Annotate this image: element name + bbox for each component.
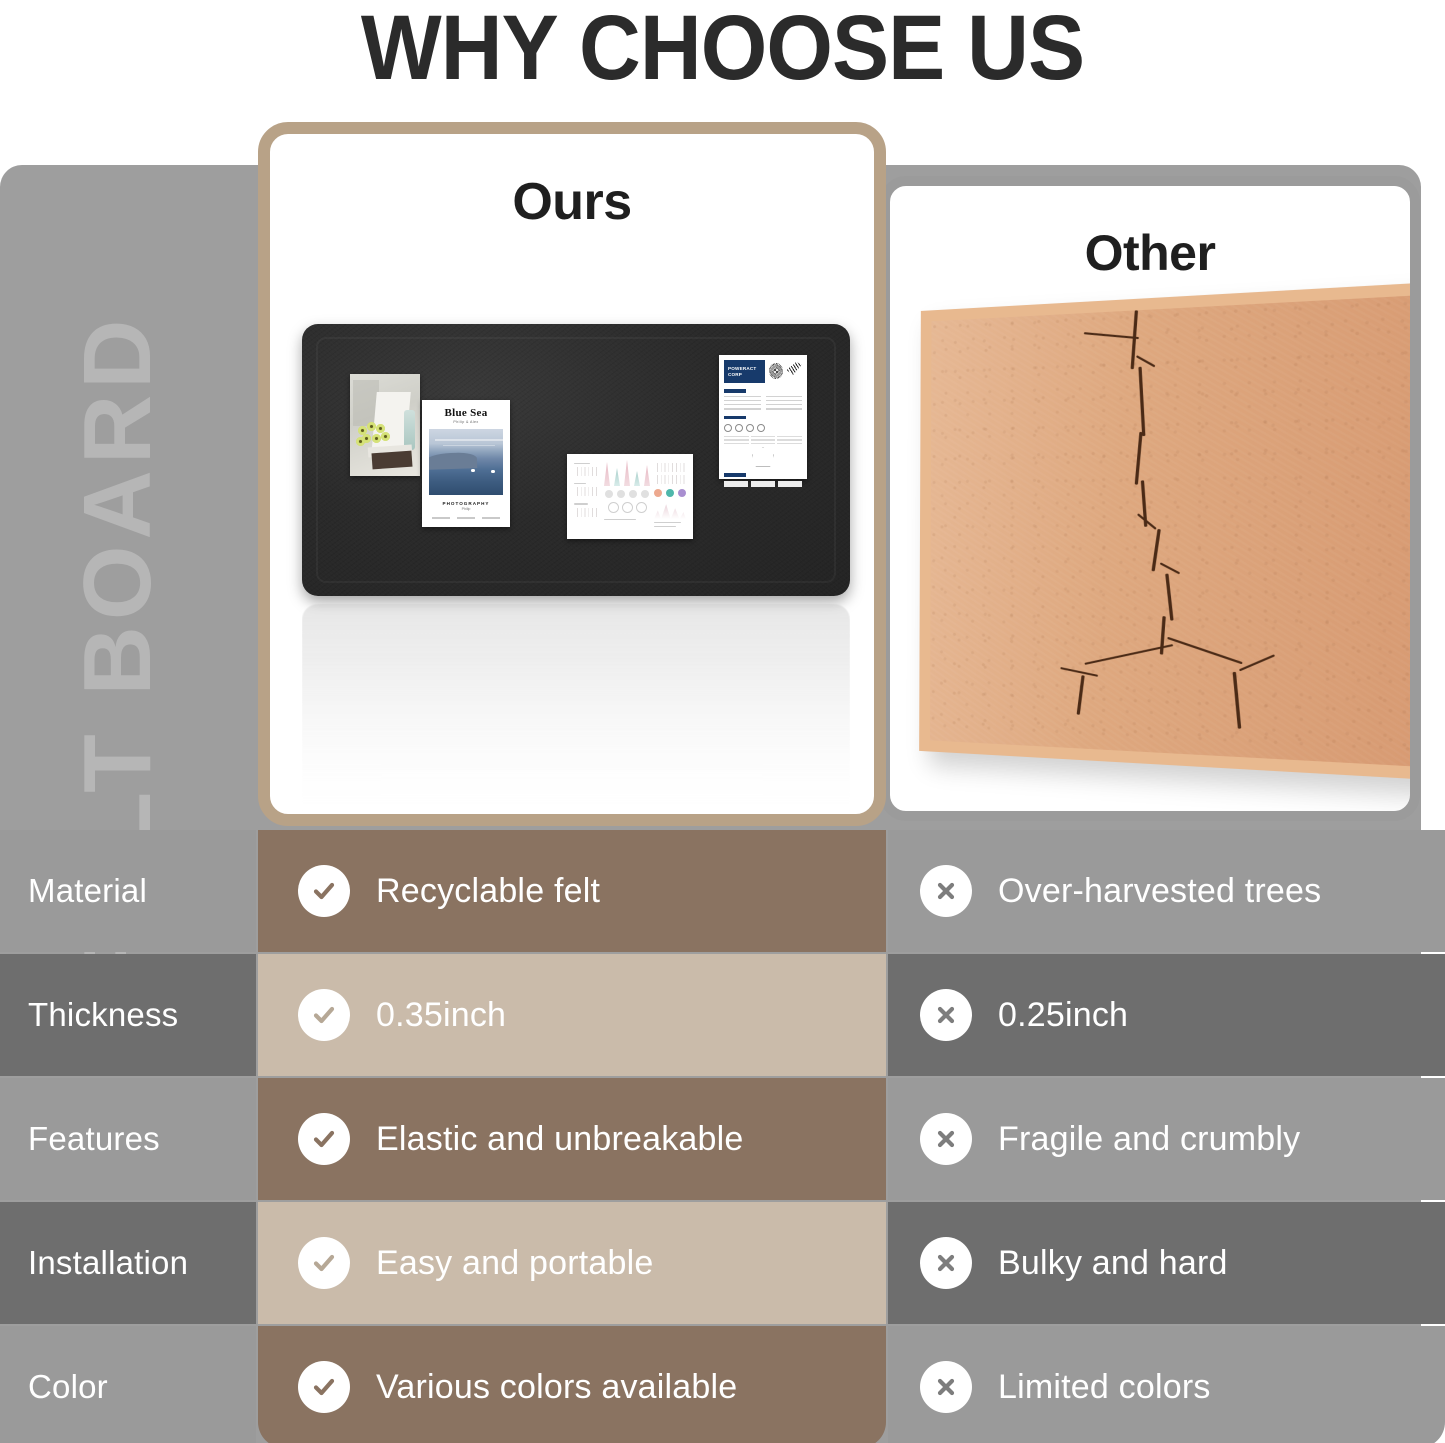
row-label: Material [0,830,256,952]
poster-caption-sub: Philip [422,507,510,511]
felt-board-image: Blue Sea Philip & Alex PHOTOGRAPHY Phili… [302,324,850,596]
other-value: 0.25inch [998,996,1128,1035]
mandala-icon [769,363,783,379]
table-row: Thickness 0.35inch 0.25inch [0,954,1445,1076]
check-icon [298,1237,350,1289]
table-row: Color Various colors available Limited c… [0,1326,1445,1443]
row-label: Features [0,1078,256,1200]
ours-value: Recyclable felt [376,872,600,911]
ours-card-heading: Ours [270,172,874,232]
document-badge: POWERACT CORP [724,360,765,383]
pinned-flowers-photo [350,374,420,476]
ours-cell: 0.35inch [258,954,886,1076]
cork-board-image [912,304,1408,782]
ours-value: Various colors available [376,1368,737,1407]
other-value: Limited colors [998,1368,1211,1407]
cross-icon [920,1113,972,1165]
other-cell: 0.25inch [888,954,1445,1076]
other-cell: Limited colors [888,1326,1445,1443]
row-label: Installation [0,1202,256,1324]
felt-board: Blue Sea Philip & Alex PHOTOGRAPHY Phili… [302,324,850,596]
ours-value: Elastic and unbreakable [376,1120,744,1159]
other-value: Over-harvested trees [998,872,1321,911]
cork-texture [930,295,1420,768]
ours-cell: Various colors available [258,1326,886,1443]
other-value: Fragile and crumbly [998,1120,1300,1159]
poster-subtitle: Philip & Alex [422,420,510,424]
cross-icon [920,865,972,917]
row-label: Color [0,1326,256,1443]
comparison-table: Material Recyclable felt Over-harvested … [0,830,1445,1443]
cross-icon [920,989,972,1041]
ours-card: Ours Blue S [258,122,886,826]
other-card: Other [880,176,1420,821]
pinned-poweract-document: POWERACT CORP [719,355,807,479]
other-cell: Fragile and crumbly [888,1078,1445,1200]
poster-title: Blue Sea [422,407,510,419]
other-cell: Bulky and hard [888,1202,1445,1324]
feather-icon [787,362,803,375]
ours-value: Easy and portable [376,1244,653,1283]
pinned-infographic [567,454,693,539]
row-label: Thickness [0,954,256,1076]
cork-board [919,281,1420,781]
cross-icon [920,1361,972,1413]
table-row: Material Recyclable felt Over-harvested … [0,830,1445,952]
check-icon [298,1113,350,1165]
felt-board-reflection [302,604,850,814]
page-title: WHY CHOOSE US [51,2,1395,96]
other-value: Bulky and hard [998,1244,1228,1283]
ours-cell: Easy and portable [258,1202,886,1324]
other-cell: Over-harvested trees [888,830,1445,952]
other-card-heading: Other [890,224,1410,282]
ours-cell: Elastic and unbreakable [258,1078,886,1200]
check-icon [298,989,350,1041]
infographic-page: WHY CHOOSE US FELT BOARD Other [0,0,1445,1443]
poster-caption: PHOTOGRAPHY [422,501,510,506]
felt-texture [302,324,850,596]
ours-cell: Recyclable felt [258,830,886,952]
table-row: Features Elastic and unbreakable Fragile… [0,1078,1445,1200]
pinned-blue-sea-poster: Blue Sea Philip & Alex PHOTOGRAPHY Phili… [422,400,510,527]
check-icon [298,865,350,917]
table-row: Installation Easy and portable Bulky and… [0,1202,1445,1324]
cross-icon [920,1237,972,1289]
poster-photo [429,429,503,495]
ours-value: 0.35inch [376,996,506,1035]
check-icon [298,1361,350,1413]
